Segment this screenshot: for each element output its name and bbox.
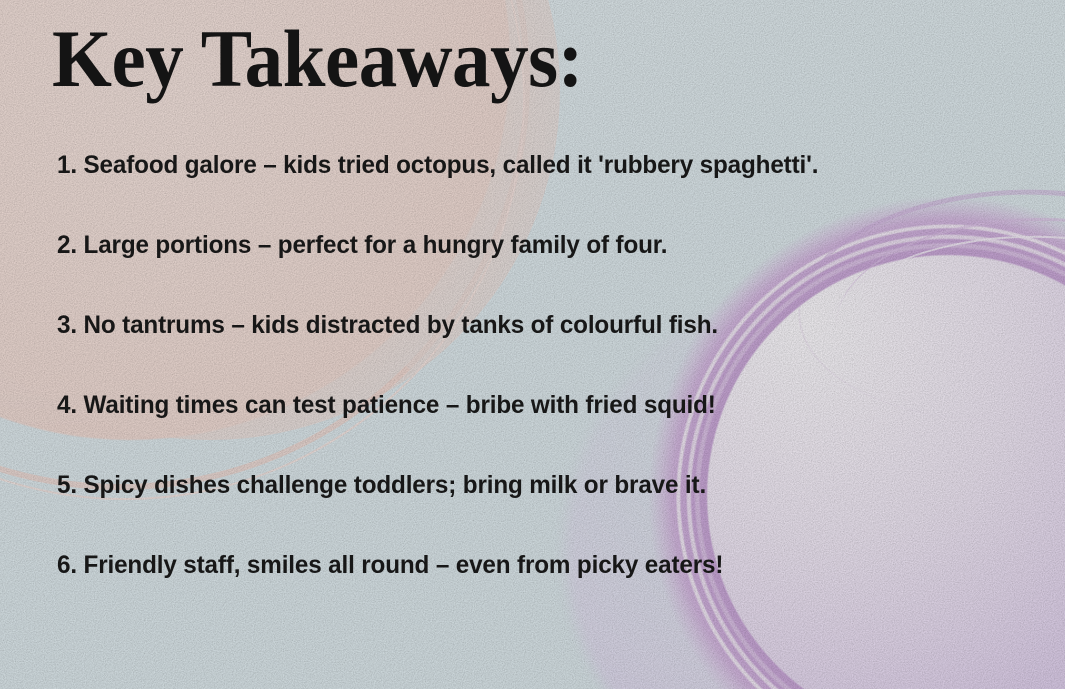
list-item: 6. Friendly staff, smiles all round – ev…	[57, 553, 988, 633]
page-title: Key Takeaways:	[52, 18, 583, 100]
list-item: 3. No tantrums – kids distracted by tank…	[57, 313, 988, 393]
list-item: 1. Seafood galore – kids tried octopus, …	[57, 153, 988, 233]
list-item: 4. Waiting times can test patience – bri…	[57, 393, 988, 473]
takeaways-list: 1. Seafood galore – kids tried octopus, …	[57, 153, 1017, 633]
slide-content: Key Takeaways: 1. Seafood galore – kids …	[0, 0, 1065, 689]
list-item: 5. Spicy dishes challenge toddlers; brin…	[57, 473, 988, 553]
list-item: 2. Large portions – perfect for a hungry…	[57, 233, 988, 313]
slide-canvas: Key Takeaways: 1. Seafood galore – kids …	[0, 0, 1065, 689]
